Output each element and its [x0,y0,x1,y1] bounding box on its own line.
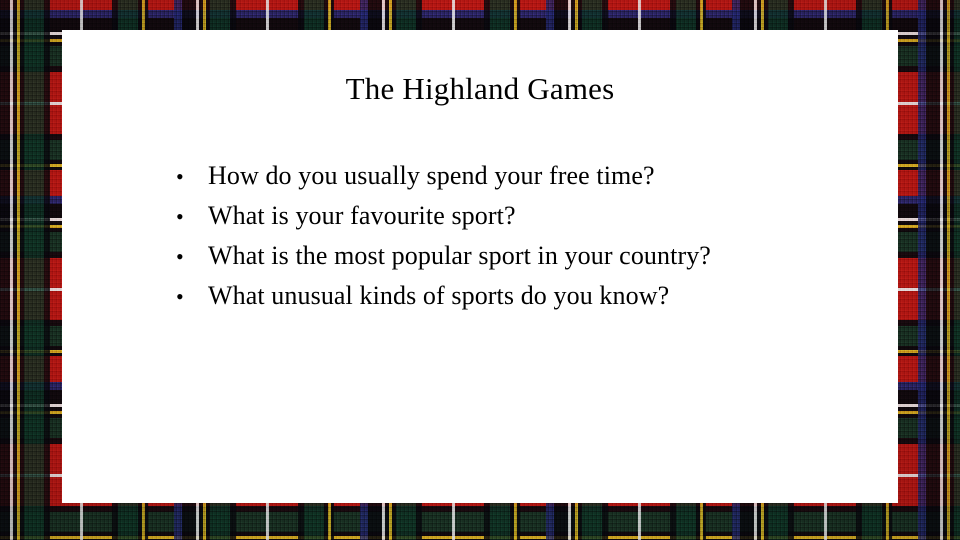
list-item-label: What unusual kinds of sports do you know… [208,283,878,309]
list-item-label: What is your favourite sport? [208,203,878,229]
bullet-point-icon: • [176,206,208,228]
bullet-point-icon: • [176,166,208,188]
slide-title: The Highland Games [62,72,898,106]
list-item: • What is your favourite sport? [176,203,878,243]
slide-content-panel: The Highland Games • How do you usually … [62,30,898,503]
bullet-point-icon: • [176,246,208,268]
list-item-label: What is the most popular sport in your c… [208,243,878,269]
slide: The Highland Games • How do you usually … [0,0,960,540]
list-item: • What is the most popular sport in your… [176,243,878,283]
question-bullet-list: • How do you usually spend your free tim… [176,163,878,323]
list-item: • How do you usually spend your free tim… [176,163,878,203]
list-item-label: How do you usually spend your free time? [208,163,878,189]
list-item: • What unusual kinds of sports do you kn… [176,283,878,323]
bullet-point-icon: • [176,286,208,308]
